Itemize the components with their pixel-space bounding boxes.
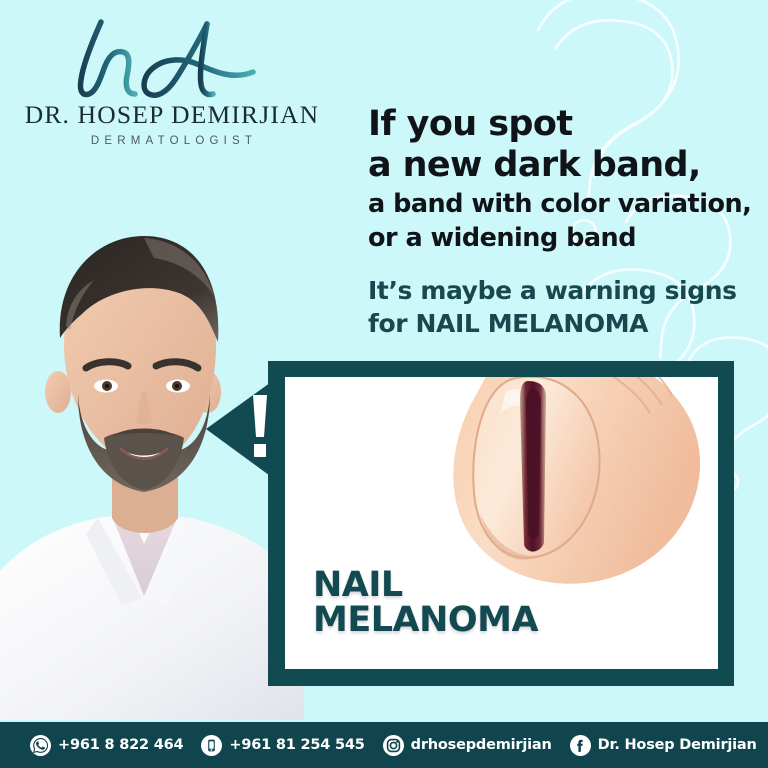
card-content: NAIL MELANOMA xyxy=(285,377,718,669)
contact-footer-bar: +961 8 822 464 +961 81 254 545 drhosepde… xyxy=(0,722,768,768)
facebook-icon xyxy=(570,735,591,756)
headline-line-6: for NAIL MELANOMA xyxy=(368,308,760,341)
logo-specialty: DERMATOLOGIST xyxy=(22,135,322,147)
contact-mobile[interactable]: +961 81 254 545 xyxy=(201,735,364,756)
contact-whatsapp-label: +961 8 822 464 xyxy=(58,737,183,753)
headline-line-3: a band with color variation, xyxy=(368,188,760,220)
card-caption: NAIL MELANOMA xyxy=(313,568,538,639)
card-caption-line-2: MELANOMA xyxy=(313,603,538,639)
card-frame: NAIL MELANOMA xyxy=(268,361,734,686)
headline-line-2: a new dark band, xyxy=(368,145,760,186)
headline-line-1: If you spot xyxy=(368,104,760,145)
contact-facebook[interactable]: Dr. Hosep Demirjian xyxy=(570,735,757,756)
instagram-icon xyxy=(383,735,404,756)
contact-facebook-label: Dr. Hosep Demirjian xyxy=(598,737,757,753)
contact-instagram-label: drhosepdemirjian xyxy=(411,737,552,753)
brand-logo: DR. HOSEP DEMIRJIAN DERMATOLOGIST xyxy=(22,14,322,154)
card-caption-line-1: NAIL xyxy=(313,568,538,604)
nail-melanoma-card: NAIL MELANOMA xyxy=(206,361,734,686)
logo-doctor-name: DR. HOSEP DEMIRJIAN xyxy=(22,102,322,128)
headline-block: If you spot a new dark band, a band with… xyxy=(368,104,760,340)
mobile-phone-icon xyxy=(201,735,222,756)
headline-line-5: It’s maybe a warning signs xyxy=(368,275,760,308)
contact-instagram[interactable]: drhosepdemirjian xyxy=(383,735,552,756)
contact-whatsapp[interactable]: +961 8 822 464 xyxy=(30,735,183,756)
poster-canvas: DR. HOSEP DEMIRJIAN DERMATOLOGIST If you… xyxy=(0,0,768,768)
exclamation-mark-icon xyxy=(250,395,270,457)
headline-line-4: or a widening band xyxy=(368,222,760,254)
hd-monogram-icon xyxy=(57,14,287,106)
whatsapp-icon xyxy=(30,735,51,756)
contact-mobile-label: +961 81 254 545 xyxy=(229,737,364,753)
